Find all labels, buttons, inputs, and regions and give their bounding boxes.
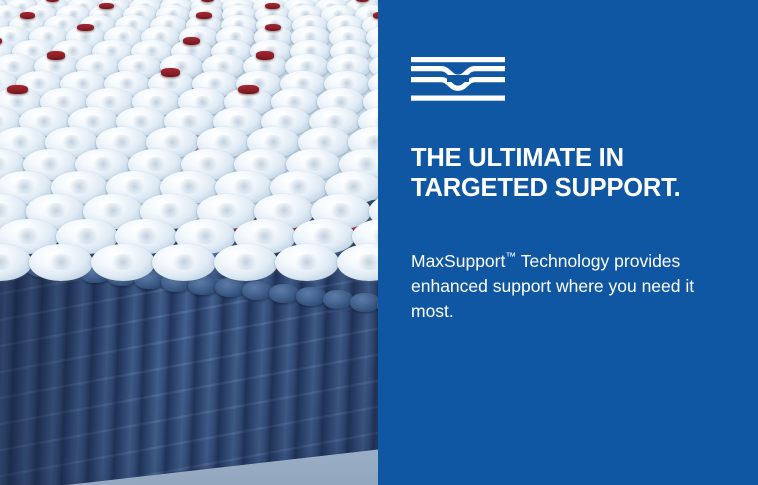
accent-coil-cap (47, 51, 65, 60)
accent-coil-cap (7, 85, 27, 94)
accent-coil-cap (183, 37, 200, 45)
headline-line-2: TARGETED SUPPORT. (411, 173, 731, 203)
text-panel: THE ULTIMATE IN TARGETED SUPPORT. MaxSup… (378, 0, 758, 485)
accent-coil-cap (265, 3, 280, 10)
base-coil-cap (350, 293, 378, 312)
accent-coil-cap (196, 12, 211, 19)
accent-coil-cap (161, 68, 180, 77)
base-coil-cap (215, 278, 245, 297)
accent-coil-cap (20, 12, 35, 19)
brand-name: MaxSupport (411, 251, 505, 271)
accent-coil-cap (256, 51, 274, 60)
coil-cap (214, 244, 278, 281)
maxsupport-wave-logo-icon (411, 57, 505, 103)
accent-coil-cap (238, 85, 258, 94)
accent-coil-cap (99, 3, 114, 10)
body-copy: MaxSupport™ Technology provides enhanced… (411, 249, 701, 324)
accent-coil-cap (77, 24, 93, 32)
base-coil-cap (296, 287, 326, 306)
coil-cap (91, 244, 155, 281)
trademark-symbol: ™ (505, 251, 516, 263)
headline-line-1: THE ULTIMATE IN (411, 143, 731, 173)
mattress-coil-image (0, 0, 378, 485)
coil-cap (152, 244, 216, 281)
promo-banner: THE ULTIMATE IN TARGETED SUPPORT. MaxSup… (0, 0, 758, 485)
page-title: THE ULTIMATE IN TARGETED SUPPORT. (411, 143, 731, 203)
top-coil-layer (0, 0, 378, 262)
base-coil-cap (269, 284, 299, 303)
accent-coil-cap (265, 24, 281, 32)
coil-cap (275, 244, 339, 281)
base-coil-cap (242, 281, 272, 300)
coil-cap (29, 244, 93, 281)
base-coil-cap (323, 290, 353, 309)
